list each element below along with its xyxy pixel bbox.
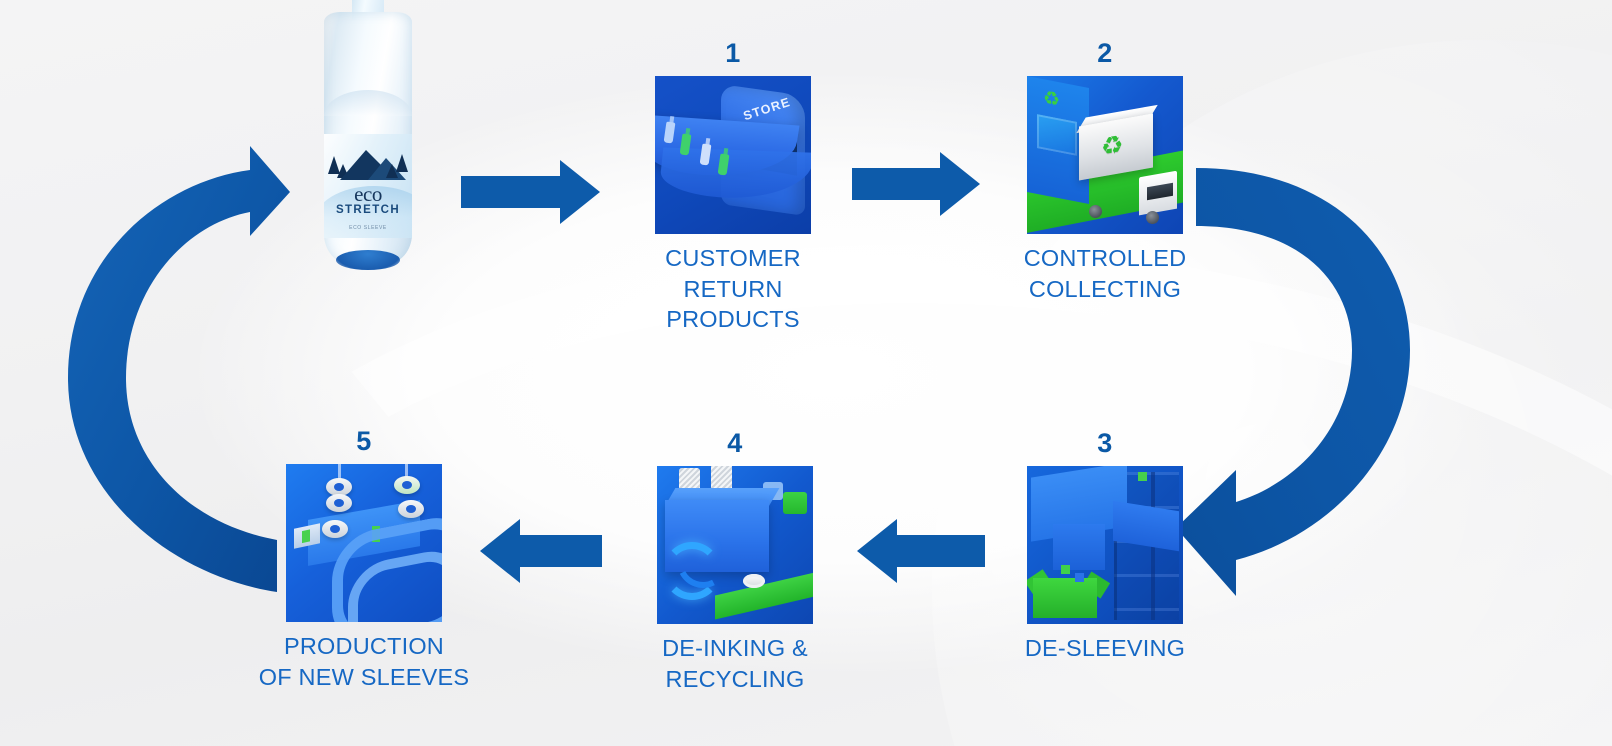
- de-inking-recycling-machine-illustration: [657, 466, 813, 624]
- sleeve-chip: [1075, 573, 1084, 582]
- product-bottle: eco STRETCH ECO SLEEVE: [312, 0, 424, 276]
- truck-wheel: [1146, 211, 1159, 224]
- material-roll: [743, 574, 765, 588]
- arrow-step3-to-step4: [857, 519, 985, 583]
- sleeve-reel: [326, 494, 352, 512]
- step-number: 5: [234, 428, 494, 455]
- truck-wheel: [1089, 205, 1102, 218]
- brand-fineprint: ECO SLEEVE: [324, 225, 412, 231]
- sleeve-reel: [322, 520, 348, 538]
- step-label: CUSTOMER RETURN PRODUCTS: [603, 243, 863, 335]
- bottle-sleeve-label: eco STRETCH ECO SLEEVE: [324, 134, 412, 238]
- bottle-base: [336, 250, 400, 270]
- process-step-1[interactable]: 1 STORE CUSTOMER RETURN PRODUCTS: [603, 40, 863, 335]
- process-step-5[interactable]: 5 PRODUCTION OF NEW SLEEVES: [234, 428, 494, 692]
- step-number: 4: [605, 430, 865, 457]
- sleeve-chip: [1138, 472, 1147, 481]
- sleeve-reel: [394, 476, 420, 494]
- step-label: DE-SLEEVING: [975, 633, 1235, 664]
- label-tree-icon: [386, 164, 398, 178]
- recycle-icon: ♻: [1101, 132, 1123, 161]
- sleeve-production-machine-illustration: [286, 464, 442, 622]
- store-return-conveyor-illustration: STORE: [655, 76, 811, 234]
- step-number: 1: [603, 40, 863, 67]
- step-label: PRODUCTION OF NEW SLEEVES: [234, 631, 494, 692]
- process-diagram: eco STRETCH ECO SLEEVE 1 STORE CUSTOMER …: [0, 0, 1612, 746]
- green-collection-box: [1033, 578, 1097, 618]
- recycle-icon: ♻: [1043, 88, 1060, 110]
- brand-subname: STRETCH: [324, 204, 412, 216]
- step-number: 3: [975, 430, 1235, 457]
- machine-chute: [1053, 524, 1105, 570]
- sleeve-chip: [1061, 565, 1070, 574]
- process-step-3[interactable]: 3 DE-SLEEVING: [975, 430, 1235, 664]
- step-label: CONTROLLED COLLECTING: [975, 243, 1235, 304]
- arrow-bottle-to-step1: [461, 160, 600, 224]
- ink-container: [783, 492, 807, 514]
- step-label: DE-INKING & RECYCLING: [605, 633, 865, 694]
- arrow-step1-to-step2: [852, 152, 980, 216]
- process-step-2[interactable]: 2 ♻ ♻ CONTROLLED COLLECTING: [975, 40, 1235, 304]
- process-step-4[interactable]: 4 DE-INKING & RECYCLING: [605, 430, 865, 694]
- de-sleeving-machine-illustration: [1027, 466, 1183, 624]
- recycling-truck-illustration: ♻ ♻: [1027, 76, 1183, 234]
- arrow-step4-to-step5: [480, 519, 602, 583]
- step-number: 2: [975, 40, 1235, 67]
- sleeve-reel: [398, 500, 424, 518]
